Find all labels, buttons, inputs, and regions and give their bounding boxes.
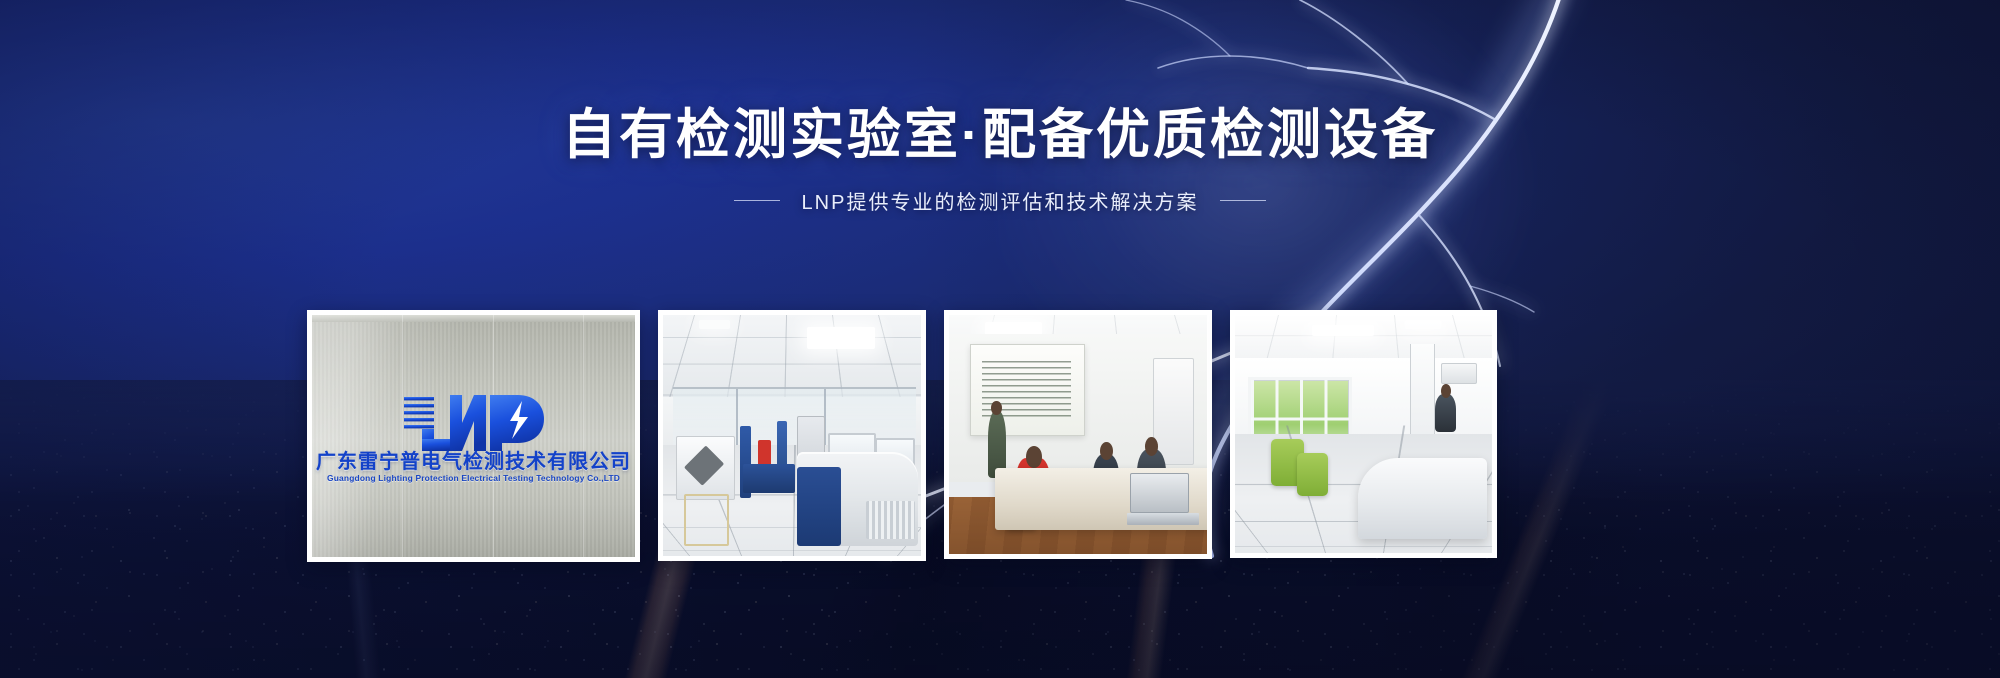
gallery-photo-office[interactable] <box>1230 310 1497 558</box>
office-person-head <box>1441 384 1451 398</box>
air-conditioner <box>1441 363 1476 384</box>
headline-block: 自有检测实验室·配备优质检测设备 LNP提供专业的检测评估和技术解决方案 <box>0 104 2000 215</box>
sign-company-name-en: Guangdong Lighting Protection Electrical… <box>312 473 635 483</box>
lab-console-blue-panel <box>797 467 841 547</box>
banner-subline: LNP提供专业的检测评估和技术解决方案 <box>0 186 2000 215</box>
meeting-room-photo <box>949 315 1207 554</box>
hero-banner: 自有检测实验室·配备优质检测设备 LNP提供专业的检测评估和技术解决方案 <box>0 0 2000 678</box>
water-dispenser <box>1153 358 1194 465</box>
seated-person-dark-head <box>1100 442 1113 460</box>
gallery-photo-meeting-room[interactable] <box>944 310 1212 559</box>
hv-lab-photo <box>663 315 921 556</box>
seated-person-red-head <box>1026 446 1041 468</box>
office-person-body <box>1435 394 1456 432</box>
rule-left-icon <box>734 200 780 201</box>
office-ceiling-light-2 <box>1405 320 1441 330</box>
banner-headline: 自有检测实验室·配备优质检测设备 <box>0 104 2000 166</box>
lab-console-vents <box>866 501 915 539</box>
lab-ceiling-light-2 <box>699 320 730 330</box>
company-sign-photo: 广东雷宁普电气检测技术有限公司 Guangdong Lighting Prote… <box>312 315 635 557</box>
banner-subtitle: LNP提供专业的检测评估和技术解决方案 <box>802 186 1199 215</box>
lab-bench-blue <box>743 464 795 493</box>
photo-gallery: 广东雷宁普电气检测技术有限公司 Guangdong Lighting Prote… <box>307 310 1647 554</box>
rule-right-icon <box>1220 200 1266 201</box>
laptop-base <box>1127 513 1199 525</box>
lab-ceiling-light-1 <box>807 327 874 349</box>
projection-screen <box>970 344 1086 437</box>
office-photo <box>1235 315 1492 553</box>
wall-seam-3 <box>583 315 584 557</box>
gallery-photo-company-sign[interactable]: 广东雷宁普电气检测技术有限公司 Guangdong Lighting Prote… <box>307 310 640 562</box>
office-ceiling-light-1 <box>1312 325 1374 337</box>
gallery-photo-hv-lab[interactable] <box>658 310 926 561</box>
office-green-chair-2 <box>1297 453 1328 496</box>
lab-sample-stand <box>684 494 729 546</box>
laptop-screen <box>1130 473 1189 513</box>
sign-company-name-cn: 广东雷宁普电气检测技术有限公司 <box>312 445 635 474</box>
reception-counter <box>1358 458 1487 539</box>
